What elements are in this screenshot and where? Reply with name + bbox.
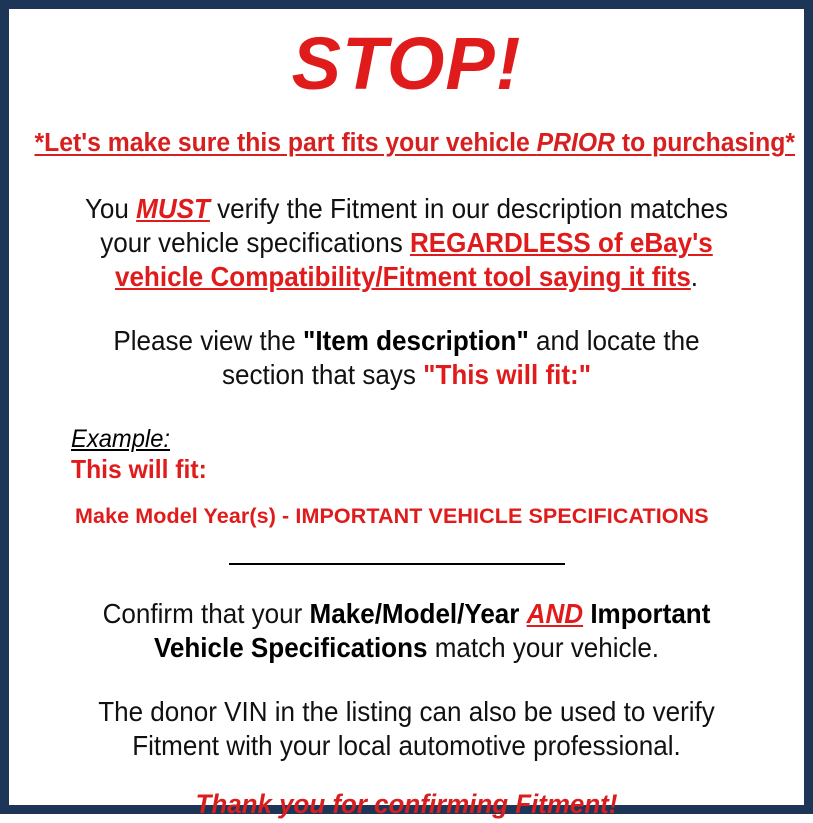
subheading-emphasis-prior: PRIOR (537, 129, 615, 157)
example-block: Example: This will fit: Make Model Year(… (23, 426, 790, 528)
confirm-paragraph: Confirm that your Make/Model/Year AND Im… (74, 597, 739, 665)
page-title: STOP! (23, 27, 790, 101)
must-emphasis: MUST (136, 193, 210, 224)
thank-you-line: Thank you for confirming Fitment! (38, 789, 774, 820)
subheading-lead: *Let's make sure this part fits your veh… (35, 129, 537, 157)
and-emphasis: AND (527, 598, 583, 629)
subheading-trail: to purchasing* (615, 129, 795, 157)
example-spec-line: Make Model Year(s) - IMPORTANT VEHICLE S… (71, 505, 790, 529)
view-part-1: Please view the (113, 325, 303, 356)
make-model-year-emphasis: Make/Model/Year (310, 598, 520, 629)
section-divider (23, 555, 790, 569)
confirm-part-1: Confirm that your (103, 598, 310, 629)
must-part-1: You (85, 193, 136, 224)
divider-line (229, 563, 565, 565)
confirm-part-4: match your vehicle. (427, 632, 659, 663)
fitment-notice-frame: STOP! *Let's make sure this part fits yo… (0, 0, 813, 814)
must-part-3: . (691, 261, 698, 292)
fitment-notice-body: STOP! *Let's make sure this part fits yo… (9, 27, 804, 823)
subheading: *Let's make sure this part fits your veh… (35, 129, 779, 158)
confirm-part-2 (519, 598, 526, 629)
item-description-emphasis: "Item description" (303, 325, 529, 356)
must-verify-paragraph: You MUST verify the Fitment in our descr… (74, 192, 739, 294)
example-fit-line: This will fit: (71, 455, 754, 484)
donor-vin-paragraph: The donor VIN in the listing can also be… (74, 695, 739, 763)
this-will-fit-emphasis: "This will fit:" (423, 359, 591, 390)
item-description-paragraph: Please view the "Item description" and l… (74, 324, 739, 392)
example-label: Example: (71, 426, 170, 452)
